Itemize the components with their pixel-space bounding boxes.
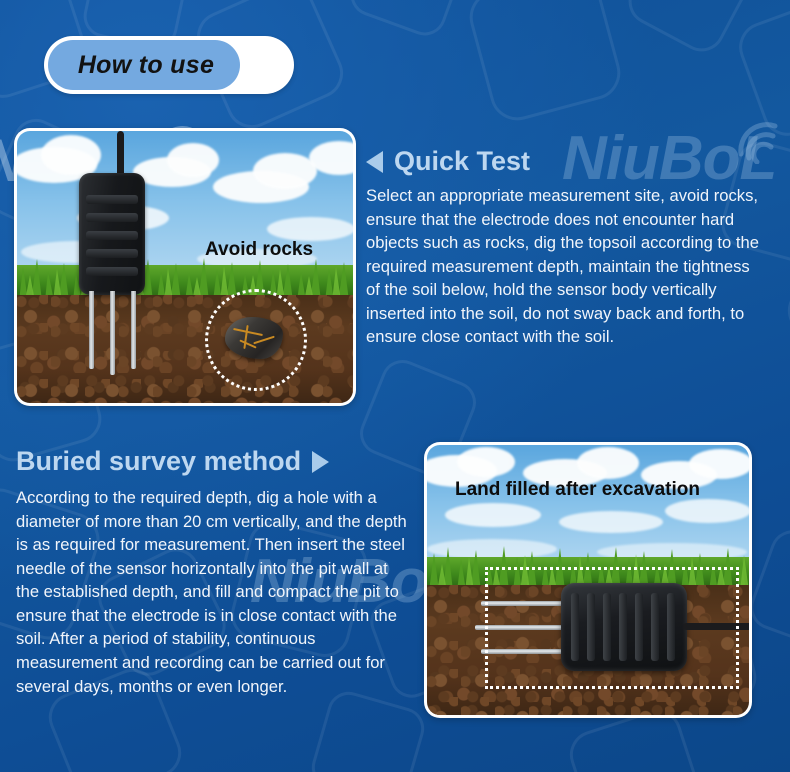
triangle-left-icon xyxy=(366,151,383,173)
photo-quick-test-scene: Avoid rocks xyxy=(17,131,353,403)
buried-survey-title-text: Buried survey method xyxy=(16,446,301,477)
sensor-prong xyxy=(89,291,94,369)
photo-caption-avoid-rocks: Avoid rocks xyxy=(205,239,313,261)
sensor-prong xyxy=(131,291,136,369)
watermark-wifi-icon-top-right xyxy=(735,120,789,164)
sensor-cable xyxy=(117,131,124,177)
photo-buried-survey-scene: Land filled after excavation xyxy=(427,445,749,715)
photo-buried-survey-card: Land filled after excavation xyxy=(424,442,752,718)
buried-survey-body-text: According to the required depth, dig a h… xyxy=(16,486,412,698)
section-title-quick-test: Quick Test xyxy=(366,146,530,177)
section-title-buried-survey: Buried survey method xyxy=(16,446,329,477)
photo-caption-land-filled: Land filled after excavation xyxy=(455,479,700,501)
quick-test-body-text: Select an appropriate measurement site, … xyxy=(366,184,764,349)
soil-sensor-body xyxy=(79,173,145,295)
triangle-right-icon xyxy=(312,451,329,473)
badge-inner-fill: How to use xyxy=(48,40,240,90)
infographic-page: How to use NiuBoL NiuBoL NiuBoL xyxy=(0,0,790,772)
how-to-use-badge: How to use xyxy=(44,36,294,94)
badge-label: How to use xyxy=(48,40,244,90)
sensor-prong xyxy=(110,291,115,375)
photo-quick-test-card: Avoid rocks xyxy=(14,128,356,406)
buried-sensor-highlight-rect xyxy=(485,567,739,689)
quick-test-title-text: Quick Test xyxy=(394,146,530,177)
